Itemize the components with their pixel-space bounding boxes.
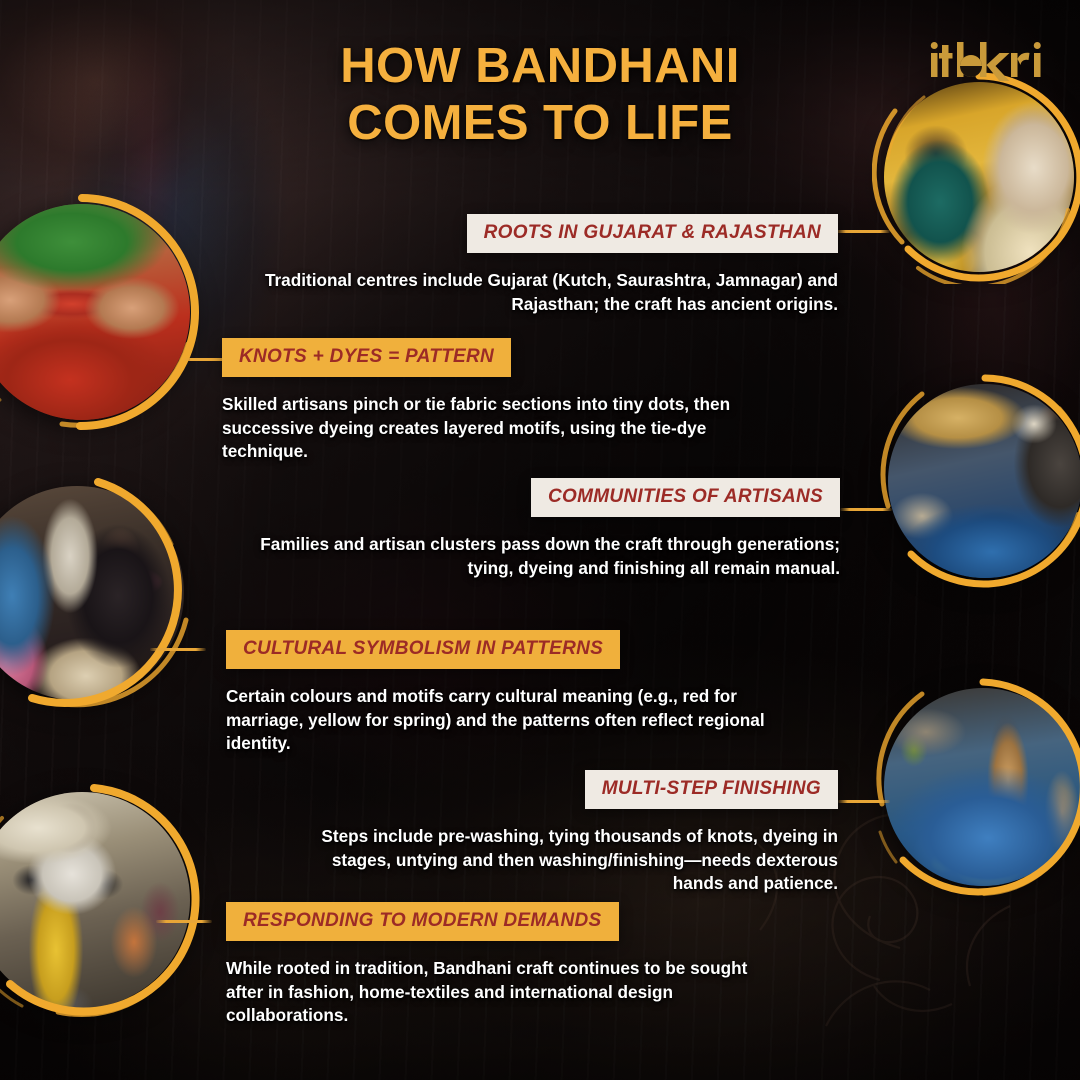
photo-dye-vat (872, 676, 1080, 898)
section-finishing-heading[interactable]: MULTI-STEP FINISHING (585, 770, 838, 809)
section-roots-body: Traditional centres include Gujarat (Kut… (246, 269, 838, 316)
section-modern-heading[interactable]: RESPONDING TO MODERN DEMANDS (226, 902, 619, 941)
section-communities-body: Families and artisan clusters pass down … (240, 533, 840, 580)
photo-woman-shawl (0, 474, 196, 712)
gold-ring-frame (872, 676, 1080, 898)
connector-communities (840, 508, 892, 511)
photo-yellow-skein (0, 780, 202, 1020)
section-knots-heading[interactable]: KNOTS + DYES = PATTERN (222, 338, 511, 377)
itokri-logo[interactable] (928, 40, 1044, 82)
connector-modern (156, 920, 212, 923)
section-roots-heading[interactable]: ROOTS IN GUJARAT & RAJASTHAN (467, 214, 838, 253)
section-modern-body: While rooted in tradition, Bandhani craf… (226, 957, 786, 1028)
section-roots: ROOTS IN GUJARAT & RAJASTHAN Traditional… (246, 214, 838, 316)
photo-dye-man (876, 372, 1080, 590)
gold-ring-frame (0, 780, 202, 1020)
section-symbolism-body: Certain colours and motifs carry cultura… (226, 685, 786, 756)
section-communities-heading[interactable]: COMMUNITIES OF ARTISANS (531, 478, 840, 517)
photo-red-cloth (0, 192, 202, 432)
section-finishing: MULTI-STEP FINISHING Steps include pre-w… (310, 770, 838, 896)
gold-ring-frame (0, 474, 196, 712)
itokri-logo-mark (928, 40, 1044, 82)
section-knots: KNOTS + DYES = PATTERN Skilled artisans … (222, 338, 774, 464)
section-symbolism: CULTURAL SYMBOLISM IN PATTERNS Certain c… (226, 630, 786, 756)
gold-ring-frame (876, 372, 1080, 590)
gold-ring-frame (872, 70, 1080, 284)
section-modern: RESPONDING TO MODERN DEMANDS While roote… (226, 902, 786, 1028)
gold-ring-frame (0, 192, 202, 432)
section-knots-body: Skilled artisans pinch or tie fabric sec… (222, 393, 774, 464)
photo-tying-women (872, 70, 1080, 284)
infographic-canvas: HOW BANDHANI COMES TO LIFE (0, 0, 1080, 1080)
section-symbolism-heading[interactable]: CULTURAL SYMBOLISM IN PATTERNS (226, 630, 620, 669)
section-finishing-body: Steps include pre-washing, tying thousan… (310, 825, 838, 896)
connector-symbolism (150, 648, 206, 651)
section-communities: COMMUNITIES OF ARTISANS Families and art… (240, 478, 840, 580)
connector-finishing (838, 800, 890, 803)
connector-roots (836, 230, 890, 233)
